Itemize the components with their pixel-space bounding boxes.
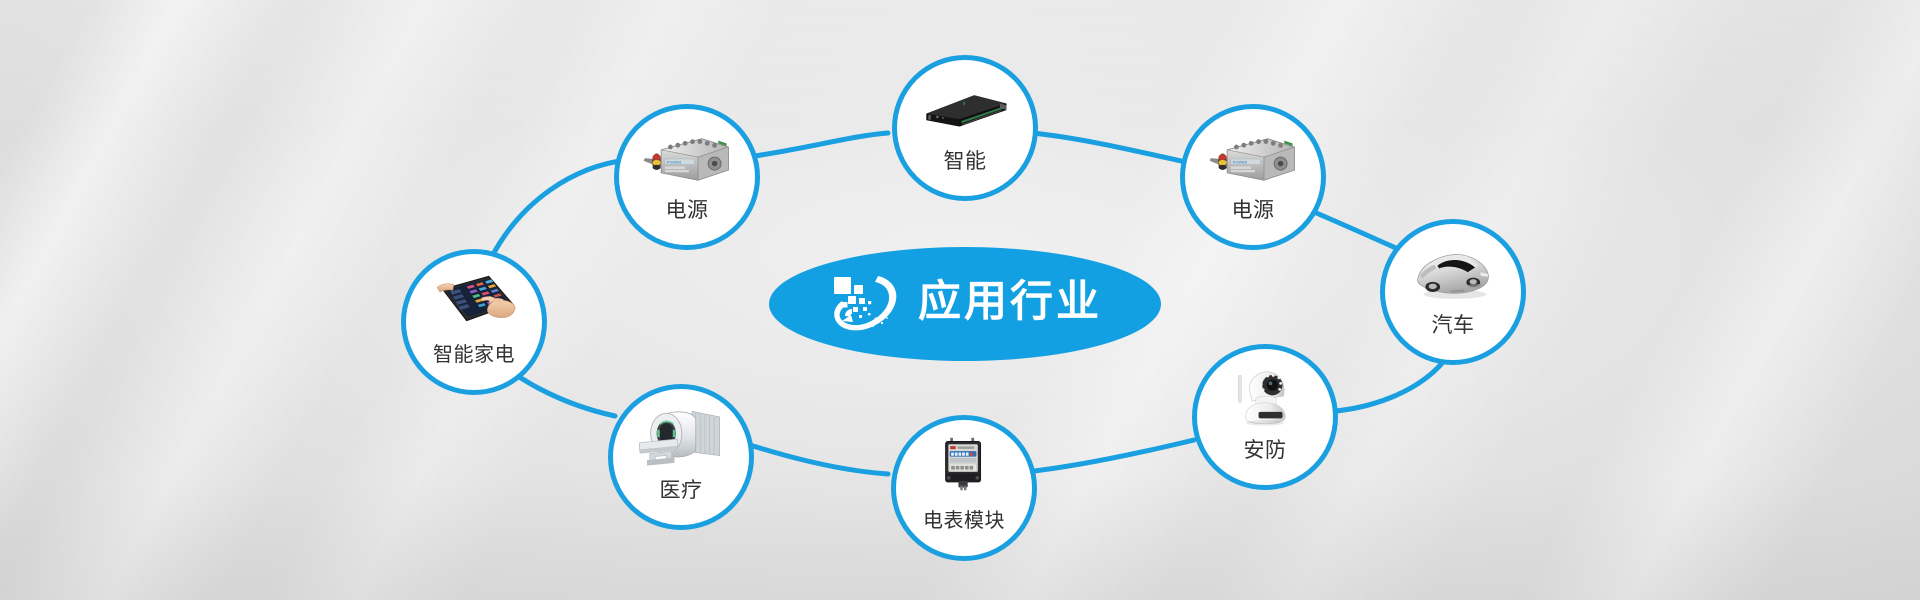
node-power-right[interactable]: POWER 电源: [1180, 104, 1326, 250]
node-automotive[interactable]: 汽车: [1380, 219, 1526, 365]
node-label: 医疗: [660, 479, 703, 501]
node-security[interactable]: 安防: [1192, 344, 1338, 490]
edge-security-meter: [1026, 440, 1194, 472]
svg-text:POWER: POWER: [667, 161, 682, 165]
power-supply-icon: POWER: [1207, 122, 1299, 196]
rack-server-icon: [919, 73, 1011, 147]
node-label: 智能家电: [433, 344, 515, 365]
node-label: 电源: [1232, 199, 1275, 221]
node-power-left[interactable]: POWER 电源: [614, 104, 760, 250]
node-label: 汽车: [1432, 314, 1475, 336]
application-industries-diagram: POWER 电源: [0, 0, 1920, 600]
power-supply-icon: POWER: [641, 122, 733, 196]
node-label: 电表模块: [923, 510, 1005, 531]
node-meter-module[interactable]: 电表模块: [891, 415, 1037, 561]
node-label: 智能: [944, 150, 987, 172]
edge-power-left-smart: [748, 133, 888, 157]
node-label: 电源: [666, 199, 709, 221]
node-medical[interactable]: 医疗: [608, 384, 754, 530]
center-badge[interactable]: 应用行业: [769, 247, 1161, 361]
badge-label: 应用行业: [918, 281, 1102, 327]
mri-scanner-icon: [635, 402, 727, 476]
node-label: 安防: [1244, 439, 1287, 461]
sports-car-icon: [1407, 237, 1499, 311]
node-smart[interactable]: 智能: [892, 55, 1038, 201]
svg-text:POWER: POWER: [1233, 161, 1248, 165]
electric-meter-icon: [918, 433, 1010, 507]
ip-camera-icon: [1219, 362, 1311, 436]
edge-smarthome-power-left: [489, 160, 627, 262]
orbit-pixel-logo-icon: [828, 271, 904, 337]
node-smart-home[interactable]: 智能家电: [401, 249, 547, 395]
edge-smart-power-right: [1032, 133, 1190, 163]
tablet-touch-icon: [428, 267, 520, 341]
edge-automotive-security: [1322, 361, 1444, 412]
